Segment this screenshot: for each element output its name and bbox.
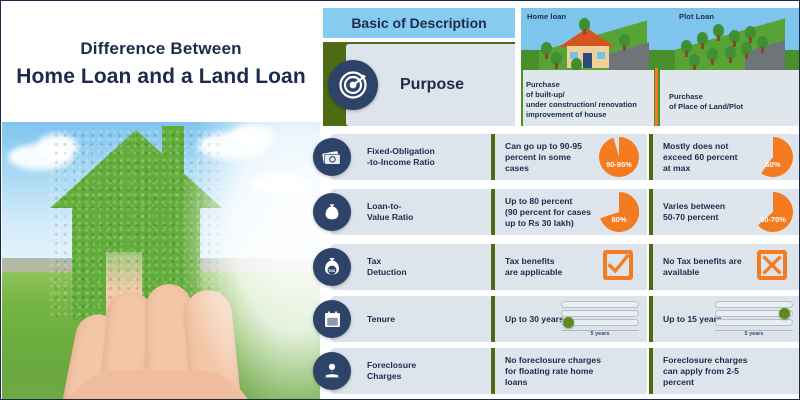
pie-label-home: 80%: [599, 215, 639, 224]
pie-chart-land: 50-70%: [753, 192, 793, 232]
row-label: Foreclosure Charges: [367, 348, 479, 394]
column-header-description: Basic of Description: [323, 8, 515, 38]
target-icon: [328, 60, 378, 110]
land-loan-cell: No Tax benefits are available: [653, 244, 800, 290]
title-line-2: Home Loan and a Land Loan: [2, 62, 320, 92]
slider-knob[interactable]: [563, 317, 574, 328]
pie-label-land: 60%: [753, 160, 793, 169]
pie-chart-land: 60%: [753, 137, 793, 177]
home-loan-cell: Tax benefits are applicable: [495, 244, 647, 290]
row-label: Loan-to- Value Ratio: [367, 189, 479, 235]
pie-label-home: 90-95%: [599, 160, 639, 169]
hero-photo: [2, 122, 320, 400]
slider-track[interactable]: [561, 301, 639, 308]
pie-label-land: 50-70%: [753, 215, 793, 224]
home-loan-cell: No foreclosure charges for floating rate…: [495, 348, 647, 394]
purpose-row: Purpose: [323, 42, 515, 126]
purpose-label: Purpose: [400, 76, 464, 94]
home-loan-caption: Purchase of built-up/ under construction…: [526, 80, 652, 120]
home-loan-text: No foreclosure charges for floating rate…: [505, 348, 621, 394]
home-loan-cell: Up to 30 years 5 years: [495, 296, 647, 342]
row-label: Tenure: [367, 296, 479, 342]
svg-text:tax: tax: [329, 268, 336, 273]
slider-track[interactable]: [715, 319, 793, 326]
table-row: Loan-to- Value Ratio Up to 80 percent (9…: [323, 189, 800, 235]
land-loan-cell: Varies between 50-70 percent 50-70%: [653, 189, 800, 235]
home-loan-label: Home loan: [527, 12, 566, 21]
title-line-1: Difference Between: [2, 36, 320, 62]
money-stack-icon: [313, 138, 351, 176]
row-label: Tax Detuction: [367, 244, 479, 290]
tenure-slider-home[interactable]: 5 years: [561, 300, 639, 338]
pie-chart-home: 80%: [599, 192, 639, 232]
home-loan-cell: Can go up to 90-95 percent in some cases…: [495, 134, 647, 180]
land-loan-cell: Up to 15 years 5 years: [653, 296, 800, 342]
home-loan-text: Tax benefits are applicable: [505, 244, 601, 290]
slider-knob[interactable]: [779, 308, 790, 319]
infographic-root: Difference Between Home Loan and a Land …: [0, 0, 800, 400]
header-illustration: Home loan Plot Loan Purchase of built-up…: [521, 8, 800, 126]
purpose-panel: Purpose: [346, 44, 515, 126]
illustration-door: [583, 53, 592, 68]
home-loan-cell: Up to 80 percent (90 percent for cases u…: [495, 189, 647, 235]
land-loan-text: Foreclosure charges can apply from 2-5 p…: [663, 348, 779, 394]
comparison-table: Basic of Description Purpose: [323, 1, 800, 400]
hero-panel: Difference Between Home Loan and a Land …: [2, 2, 320, 400]
pie-chart-home: 90-95%: [599, 137, 639, 177]
sun-glare: [180, 122, 320, 400]
illustration-roof: [559, 28, 615, 47]
illustration-divider: [655, 68, 658, 126]
slider-track[interactable]: [561, 310, 639, 317]
table-row: tax Tax Detuction Tax benefits are appli…: [323, 244, 800, 290]
slider-track[interactable]: [715, 301, 793, 308]
land-loan-cell: Mostly does not exceed 60 percent at max…: [653, 134, 800, 180]
land-loan-text: Varies between 50-70 percent: [663, 189, 759, 235]
plot-loan-label: Plot Loan: [679, 12, 714, 21]
land-loan-cell: Foreclosure charges can apply from 2-5 p…: [653, 348, 800, 394]
calendar-icon: [313, 300, 351, 338]
page-title: Difference Between Home Loan and a Land …: [2, 36, 320, 92]
cross-icon: [757, 250, 787, 280]
money-bag-icon: [313, 193, 351, 231]
table-row: Tenure Up to 30 years 5 years Up to 15 y…: [323, 296, 800, 342]
slider-label: 5 years: [561, 331, 639, 337]
table-row: Fixed-Obligation -to-Income Ratio Can go…: [323, 134, 800, 180]
tax-bag-icon: tax: [313, 248, 351, 286]
slider-label: 5 years: [715, 331, 793, 337]
home-loan-text: Can go up to 90-95 percent in some cases: [505, 134, 601, 180]
land-loan-text: No Tax benefits are available: [663, 244, 759, 290]
tenure-slider-land[interactable]: 5 years: [715, 300, 793, 338]
check-icon: [603, 250, 633, 280]
foreclosure-icon: [313, 352, 351, 390]
plot-loan-caption: Purchase of Place of Land/Plot: [669, 92, 795, 112]
row-label: Fixed-Obligation -to-Income Ratio: [367, 134, 479, 180]
house-illustration: [557, 28, 619, 72]
land-loan-text: Mostly does not exceed 60 percent at max: [663, 134, 759, 180]
table-row: Foreclosure Charges No foreclosure charg…: [323, 348, 800, 394]
illustration-window: [597, 52, 605, 59]
